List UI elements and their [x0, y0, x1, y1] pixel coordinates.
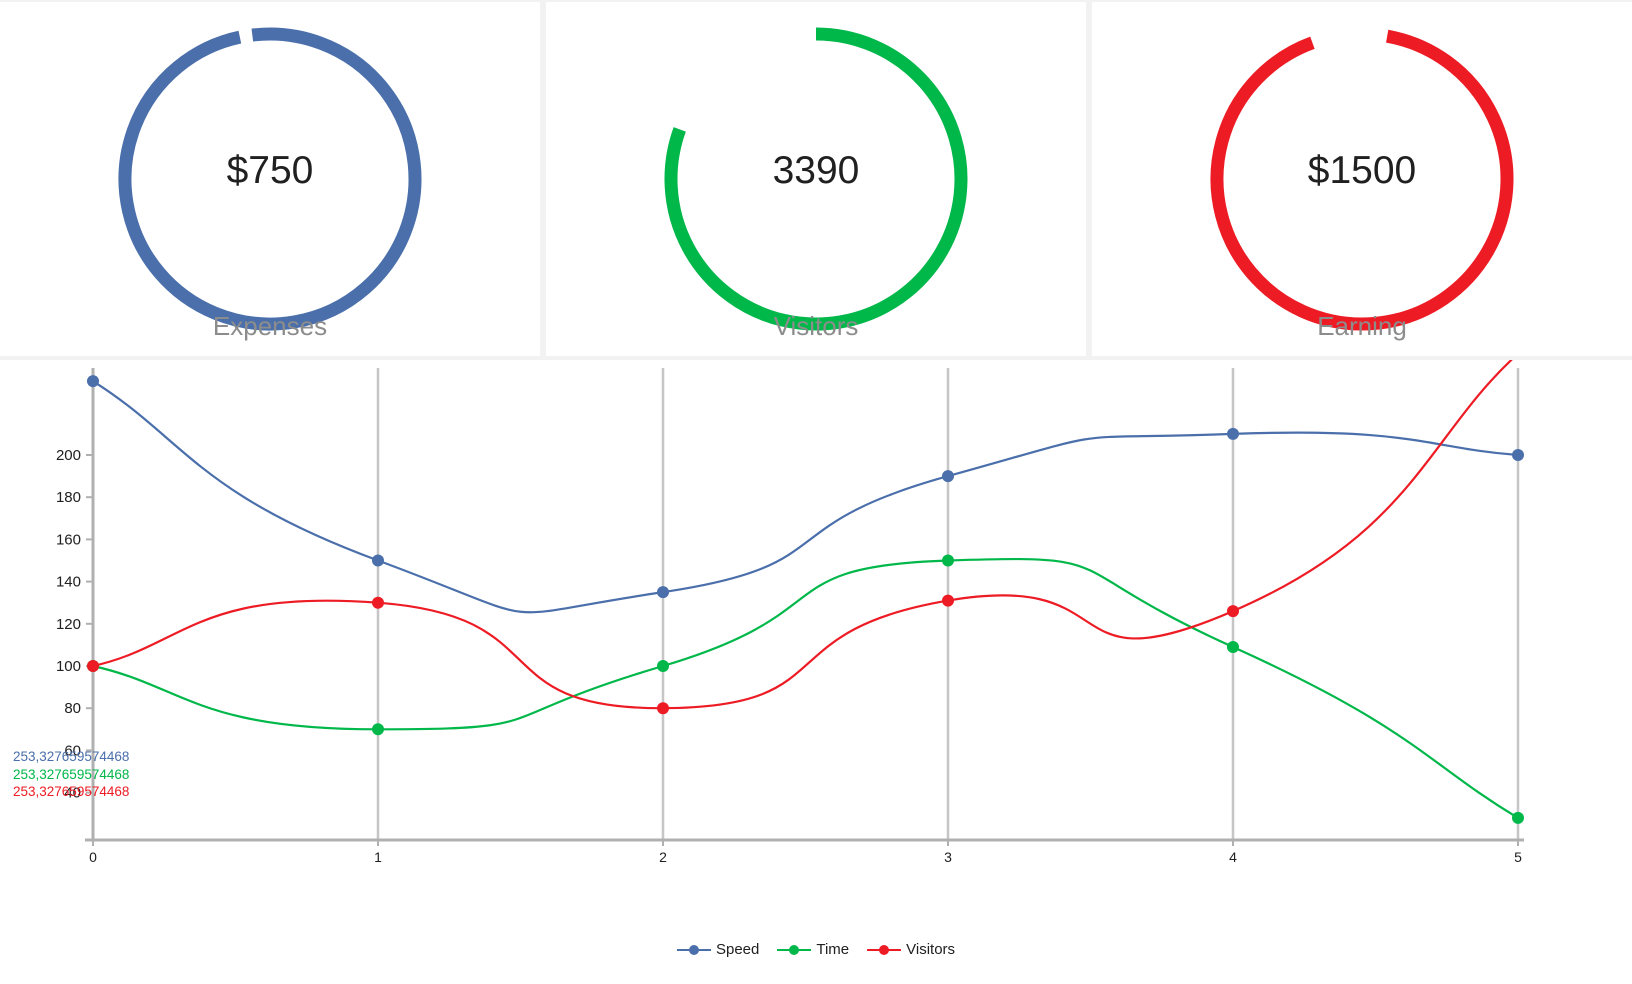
gauge-card-earning[interactable]: $1500 Earning	[1092, 2, 1632, 356]
gauge-label-visitors: Visitors	[546, 311, 1086, 342]
gauge-value-visitors: 3390	[646, 1, 986, 341]
dashboard: $750 Expenses 3390 Visitors $1500 Earnin…	[0, 0, 1632, 984]
legend-item-visitors[interactable]: Visitors	[867, 941, 955, 958]
svg-text:3: 3	[944, 849, 952, 865]
svg-text:200: 200	[56, 447, 81, 464]
svg-text:4: 4	[1229, 849, 1237, 865]
svg-text:80: 80	[64, 700, 81, 717]
legend-item-speed[interactable]: Speed	[677, 941, 759, 958]
gauge-card-visitors[interactable]: 3390 Visitors	[546, 2, 1086, 356]
line-chart-card[interactable]: 406080100120140160180200 012345 253,3276…	[0, 360, 1632, 984]
gauge-card-expenses[interactable]: $750 Expenses	[0, 2, 540, 356]
line-chart[interactable]: 406080100120140160180200 012345	[0, 360, 1632, 976]
legend-marker-icon	[677, 944, 711, 956]
readout-visitors: 253,327659574468	[13, 783, 129, 801]
legend-label: Speed	[716, 941, 759, 958]
svg-text:160: 160	[56, 531, 81, 548]
readout-speed: 253,327659574468	[13, 748, 129, 766]
chart-series	[93, 360, 1518, 818]
svg-text:5: 5	[1514, 849, 1522, 865]
svg-text:100: 100	[56, 658, 81, 675]
gauge-expenses: $750	[100, 9, 440, 349]
gauge-value-expenses: $750	[100, 1, 440, 341]
svg-text:120: 120	[56, 616, 81, 633]
svg-text:2: 2	[659, 849, 667, 865]
gauge-row: $750 Expenses 3390 Visitors $1500 Earnin…	[0, 0, 1632, 360]
svg-text:180: 180	[56, 489, 81, 506]
legend-label: Time	[816, 941, 849, 958]
legend-item-time[interactable]: Time	[777, 941, 849, 958]
gauge-visitors: 3390	[646, 9, 986, 349]
svg-text:1: 1	[374, 849, 382, 865]
gauge-label-earning: Earning	[1092, 311, 1632, 342]
chart-markers[interactable]	[87, 360, 1524, 824]
chart-axes	[85, 368, 1524, 840]
readout-time: 253,327659574468	[13, 766, 129, 784]
series-readout: 253,327659574468 253,327659574468 253,32…	[13, 748, 129, 801]
gauge-label-expenses: Expenses	[0, 311, 540, 342]
legend-marker-icon	[867, 944, 901, 956]
gauge-value-earning: $1500	[1192, 1, 1532, 341]
legend-label: Visitors	[906, 941, 955, 958]
chart-legend: SpeedTimeVisitors	[0, 941, 1632, 958]
gauge-earning: $1500	[1192, 9, 1532, 349]
legend-marker-icon	[777, 944, 811, 956]
svg-text:0: 0	[89, 849, 97, 865]
svg-text:140: 140	[56, 574, 81, 591]
chart-gridlines	[93, 368, 1518, 840]
chart-x-ticks: 012345	[89, 840, 1522, 865]
